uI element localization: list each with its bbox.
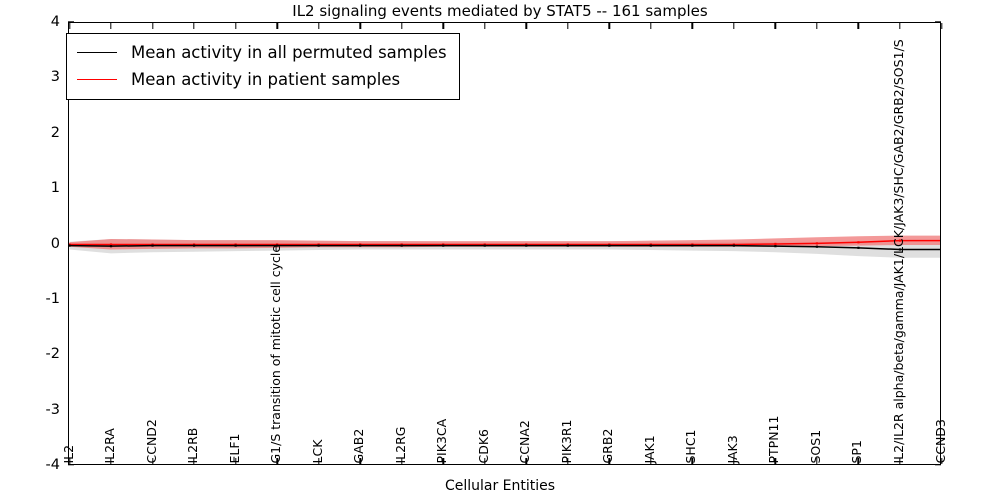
y-axis-tick-label: 0 bbox=[0, 236, 60, 252]
x-axis-tick-label: CCND3 bbox=[934, 419, 947, 463]
x-axis-tick-mark-top bbox=[941, 23, 942, 29]
x-axis-tick-mark-top bbox=[69, 23, 70, 29]
x-axis-tick-mark-top bbox=[775, 23, 776, 29]
x-axis-tick-mark-top bbox=[110, 23, 111, 29]
data-point bbox=[774, 243, 776, 245]
x-axis-tick-label: PIK3R1 bbox=[561, 419, 574, 463]
x-axis-tick-mark-top bbox=[359, 23, 360, 29]
data-point bbox=[318, 245, 320, 247]
data-point bbox=[650, 245, 652, 247]
data-point bbox=[401, 245, 403, 247]
data-point bbox=[816, 242, 818, 244]
x-axis-tick-mark-top bbox=[484, 23, 485, 29]
legend-line-icon-permuted bbox=[77, 52, 117, 53]
x-axis-tick-label: PTPN11 bbox=[768, 415, 781, 463]
x-axis-tick-label: JAK3 bbox=[727, 435, 740, 463]
x-axis-tick-label: ELF1 bbox=[228, 433, 241, 463]
x-axis-tick-mark-top bbox=[609, 23, 610, 29]
data-point bbox=[110, 245, 112, 247]
x-axis-tick-mark-top bbox=[899, 23, 900, 29]
x-axis-tick-mark-top bbox=[193, 23, 194, 29]
x-axis-tick-label: JAK1 bbox=[644, 435, 657, 463]
data-point bbox=[691, 245, 693, 247]
data-point bbox=[525, 245, 527, 247]
legend-label-patient: Mean activity in patient samples bbox=[131, 70, 400, 89]
data-point bbox=[235, 245, 237, 247]
y-axis-tick-label: 4 bbox=[0, 14, 60, 30]
x-axis-tick-mark-top bbox=[692, 23, 693, 29]
x-axis-tick-label: CCNA2 bbox=[519, 420, 532, 463]
x-axis-tick-mark-top bbox=[318, 23, 319, 29]
x-axis-tick-mark-top bbox=[401, 23, 402, 29]
y-axis-tick-label: -4 bbox=[0, 457, 60, 473]
data-point bbox=[359, 245, 361, 247]
x-axis-tick-mark-top bbox=[733, 23, 734, 29]
chart-legend: Mean activity in all permuted samples Me… bbox=[66, 33, 460, 100]
x-axis-tick-label: CCND2 bbox=[145, 419, 158, 463]
x-axis-tick-label: IL2RA bbox=[104, 428, 117, 463]
y-axis-tick-label: -1 bbox=[0, 291, 60, 307]
chart-title: IL2 signaling events mediated by STAT5 -… bbox=[0, 2, 1000, 20]
x-axis-tick-label: CDK6 bbox=[477, 428, 490, 463]
x-axis-tick-label: PIK3CA bbox=[436, 418, 449, 463]
data-point bbox=[151, 245, 153, 247]
data-point bbox=[774, 245, 776, 247]
x-axis-tick-label: SOS1 bbox=[810, 429, 823, 463]
x-axis-tick-label: SHC1 bbox=[685, 429, 698, 463]
x-axis-tick-mark-top bbox=[443, 23, 444, 29]
legend-item: Mean activity in patient samples bbox=[77, 66, 447, 93]
data-point bbox=[816, 246, 818, 248]
x-axis-tick-mark-top bbox=[152, 23, 153, 29]
y-axis-tick-label: 2 bbox=[0, 125, 60, 141]
x-axis-tick-label: IL2/IL2R alpha/beta/gamma/JAK1/LCK/JAK3/… bbox=[893, 39, 906, 463]
data-point bbox=[857, 247, 859, 249]
legend-line-icon-patient bbox=[77, 79, 117, 80]
x-axis-tick-label: IL2 bbox=[62, 444, 75, 463]
x-axis-tick-mark-top bbox=[276, 23, 277, 29]
data-point bbox=[69, 245, 71, 247]
y-axis-tick-label: 1 bbox=[0, 180, 60, 196]
x-axis-tick-mark-top bbox=[235, 23, 236, 29]
x-axis-label: Cellular Entities bbox=[0, 478, 1000, 494]
y-axis-tick-label: -2 bbox=[0, 346, 60, 362]
data-point bbox=[857, 241, 859, 243]
data-point bbox=[484, 245, 486, 247]
x-axis-tick-mark-top bbox=[567, 23, 568, 29]
legend-label-permuted: Mean activity in all permuted samples bbox=[131, 43, 447, 62]
x-axis-tick-label: GRB2 bbox=[602, 428, 615, 463]
x-axis-tick-label: LCK bbox=[311, 439, 324, 463]
chart-root: IL2 signaling events mediated by STAT5 -… bbox=[0, 0, 1000, 500]
data-point bbox=[567, 245, 569, 247]
data-point bbox=[733, 245, 735, 247]
legend-item: Mean activity in all permuted samples bbox=[77, 39, 447, 66]
x-axis-tick-label: IL2RG bbox=[394, 426, 407, 463]
x-axis-tick-label: G1/S transition of mitotic cell cycle bbox=[270, 244, 283, 463]
data-point bbox=[608, 245, 610, 247]
x-axis-tick-mark-top bbox=[816, 23, 817, 29]
x-axis-tick-label: GAB2 bbox=[353, 428, 366, 463]
y-axis-tick-label: -3 bbox=[0, 402, 60, 418]
x-axis-tick-label: IL2RB bbox=[187, 427, 200, 463]
data-point bbox=[442, 245, 444, 247]
y-axis-tick-label: 3 bbox=[0, 69, 60, 85]
x-axis-tick-mark-top bbox=[650, 23, 651, 29]
data-point bbox=[193, 245, 195, 247]
x-axis-tick-label: SP1 bbox=[851, 440, 864, 463]
x-axis-tick-mark-top bbox=[858, 23, 859, 29]
x-axis-tick-mark-top bbox=[526, 23, 527, 29]
